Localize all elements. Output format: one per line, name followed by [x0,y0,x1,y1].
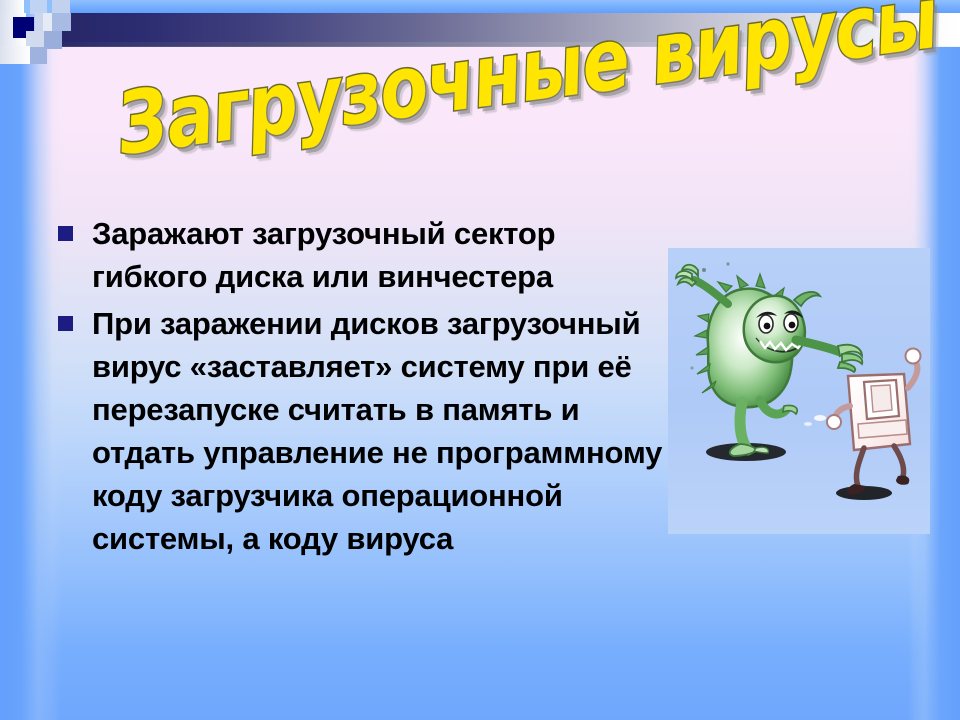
floppy-disk-character [804,349,921,496]
motion-speck [804,422,812,426]
floppy-right-leg [894,446,904,480]
bullet-text: Заражают загрузочный сектор гибкого диск… [92,212,678,298]
checker-square-blue-4 [30,47,47,64]
bullet-square-icon [58,226,73,241]
presentation-slide: Загрузочные вирусы Заражают загрузочный … [0,0,960,720]
floppy-left-leg [856,448,864,486]
bullet-list: Заражают загрузочный сектор гибкого диск… [58,212,678,564]
motion-speck [814,415,826,421]
checker-square-light-2 [52,0,70,14]
virus-clipart-image [668,248,930,534]
fleck [690,366,693,369]
virus-chasing-floppy-icon [668,248,930,534]
checker-square-pale-4 [0,46,30,64]
left-edge-accent [0,0,62,720]
bullet-text: При заражении дисков загрузочный вирус «… [92,302,678,560]
fleck [702,268,706,272]
checker-square-white-1 [0,0,24,14]
title-wordart-container: Загрузочные вирусы [118,58,758,188]
bullet-square-icon [58,316,73,331]
virus-front-leg [740,402,748,450]
virus-antenna [794,292,820,306]
checker-square-blue-2 [52,13,71,31]
virus-right-arm [796,340,840,352]
virus-back-leg [760,400,786,414]
list-item: При заражении дисков загрузочный вирус «… [58,302,678,560]
checker-square-pale-2 [35,13,43,31]
list-item: Заражают загрузочный сектор гибкого диск… [58,212,678,298]
fleck [726,262,729,265]
checker-square-light-1 [30,0,47,14]
